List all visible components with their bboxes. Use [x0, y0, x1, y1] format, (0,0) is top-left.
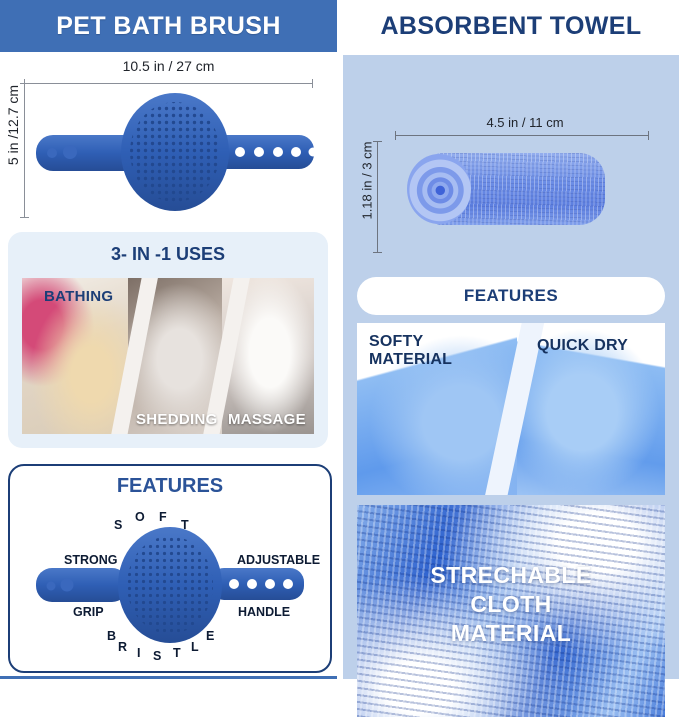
left-panel: PET BATH BRUSH 10.5 in / 27 cm 5 in /12.…	[0, 0, 337, 679]
towel-height-dimension-line	[377, 141, 378, 253]
towel-height-label: 1.18 in / 3 cm	[360, 126, 375, 236]
arc-letter-s: S	[114, 518, 122, 532]
label-softy-material: SOFTY MATERIAL	[369, 333, 452, 369]
label-shedding: SHEDDING	[136, 411, 218, 428]
towel-width-dimension-line	[395, 135, 649, 136]
brush-height-dimension-line	[24, 83, 25, 218]
towel-features-pill: FEATURES	[357, 277, 665, 315]
infographic-root: PET BATH BRUSH 10.5 in / 27 cm 5 in /12.…	[0, 0, 679, 679]
stretchable-cloth-photo: STRECHABLE CLOTH MATERIAL	[357, 505, 665, 717]
right-header: ABSORBENT TOWEL	[343, 0, 679, 52]
arc-letter-o: O	[135, 510, 145, 524]
label-softy-line1: SOFTY	[369, 333, 452, 351]
label-quick-dry: QUICK DRY	[537, 337, 628, 355]
right-panel-body: 4.5 in / 11 cm 1.18 in / 3 cm FEATURES	[343, 55, 679, 679]
stretch-line-3: MATERIAL	[357, 619, 665, 648]
brush-features-diagram-image	[28, 522, 312, 648]
towel-width-label: 4.5 in / 11 cm	[383, 115, 667, 130]
brush-product-image	[30, 91, 320, 213]
brush-features-title: FEATURES	[10, 475, 330, 498]
towel-roll-spiral-end	[407, 154, 471, 224]
label-bathing: BATHING	[44, 288, 113, 305]
arc-letter-i: I	[137, 646, 140, 660]
arc-letter-l: L	[191, 640, 199, 654]
left-header-title: PET BATH BRUSH	[56, 12, 281, 41]
stretchable-cloth-caption: STRECHABLE CLOTH MATERIAL	[357, 561, 665, 648]
arc-letter-t: T	[181, 518, 189, 532]
stretch-line-1: STRECHABLE	[357, 561, 665, 590]
brush-features-card: FEATURES	[8, 464, 332, 673]
arc-letter-f: F	[159, 510, 167, 524]
label-massage: MASSAGE	[228, 411, 306, 428]
arc-letter-s2: S	[153, 649, 161, 663]
label-softy-line2: MATERIAL	[369, 351, 452, 369]
right-header-title: ABSORBENT TOWEL	[380, 12, 641, 41]
arc-letter-b: B	[107, 629, 116, 643]
label-grip: GRIP	[73, 605, 104, 619]
label-strong: STRONG	[64, 553, 117, 567]
arc-letter-r: R	[118, 640, 127, 654]
arc-letter-t2: T	[173, 646, 181, 660]
brush-height-label: 5 in /12.7 cm	[5, 65, 21, 185]
towel-features-photo-pair: SOFTY MATERIAL QUICK DRY	[357, 323, 665, 495]
rolled-towel-image	[407, 153, 605, 225]
brush-width-dimension-line	[24, 83, 313, 84]
uses-card-title: 3- IN -1 USES	[8, 244, 328, 265]
three-in-one-uses-card: 3- IN -1 USES BATHING SHEDDING MASSAGE	[8, 232, 328, 448]
brush-width-label: 10.5 in / 27 cm	[0, 58, 337, 74]
uses-photo-strip: BATHING SHEDDING MASSAGE	[22, 278, 314, 434]
right-panel: ABSORBENT TOWEL 4.5 in / 11 cm 1.18 in /…	[343, 0, 679, 679]
left-header: PET BATH BRUSH	[0, 0, 337, 52]
label-adjustable: ADJUSTABLE	[237, 553, 320, 567]
label-handle: HANDLE	[238, 605, 290, 619]
arc-letter-e: E	[206, 629, 214, 643]
towel-features-pill-label: FEATURES	[464, 286, 558, 306]
brush-dimension-figure: 10.5 in / 27 cm 5 in /12.7 cm	[0, 55, 337, 225]
stretch-line-2: CLOTH	[357, 590, 665, 619]
